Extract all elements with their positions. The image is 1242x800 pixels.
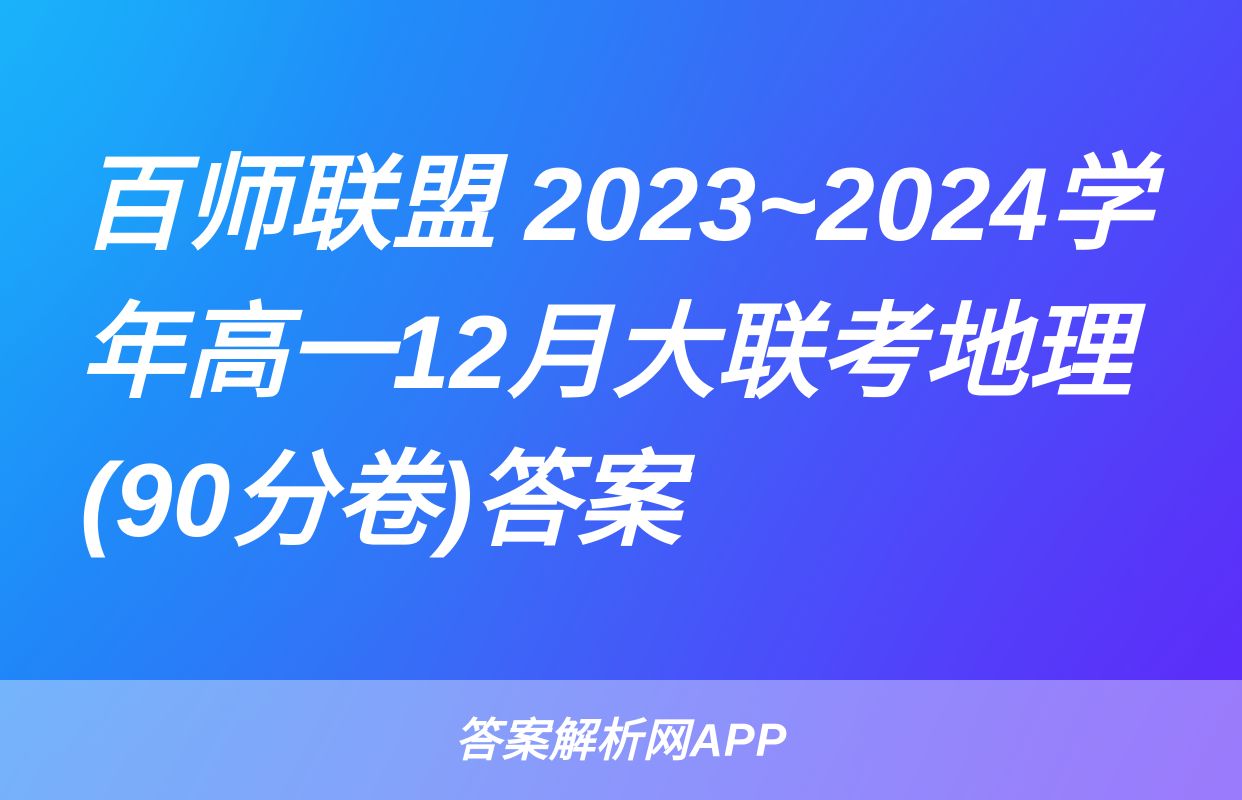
app-name-label: 答案解析网APP — [455, 717, 788, 763]
page-title: 百师联盟 2023~2024学年高一12月大联考地理(90分卷)答案 — [80, 132, 1164, 575]
footer-banner: 答案解析网APP — [0, 680, 1242, 800]
title-container: 百师联盟 2023~2024学年高一12月大联考地理(90分卷)答案 — [0, 0, 1242, 680]
share-card: 百师联盟 2023~2024学年高一12月大联考地理(90分卷)答案 答案解析网… — [0, 0, 1242, 800]
